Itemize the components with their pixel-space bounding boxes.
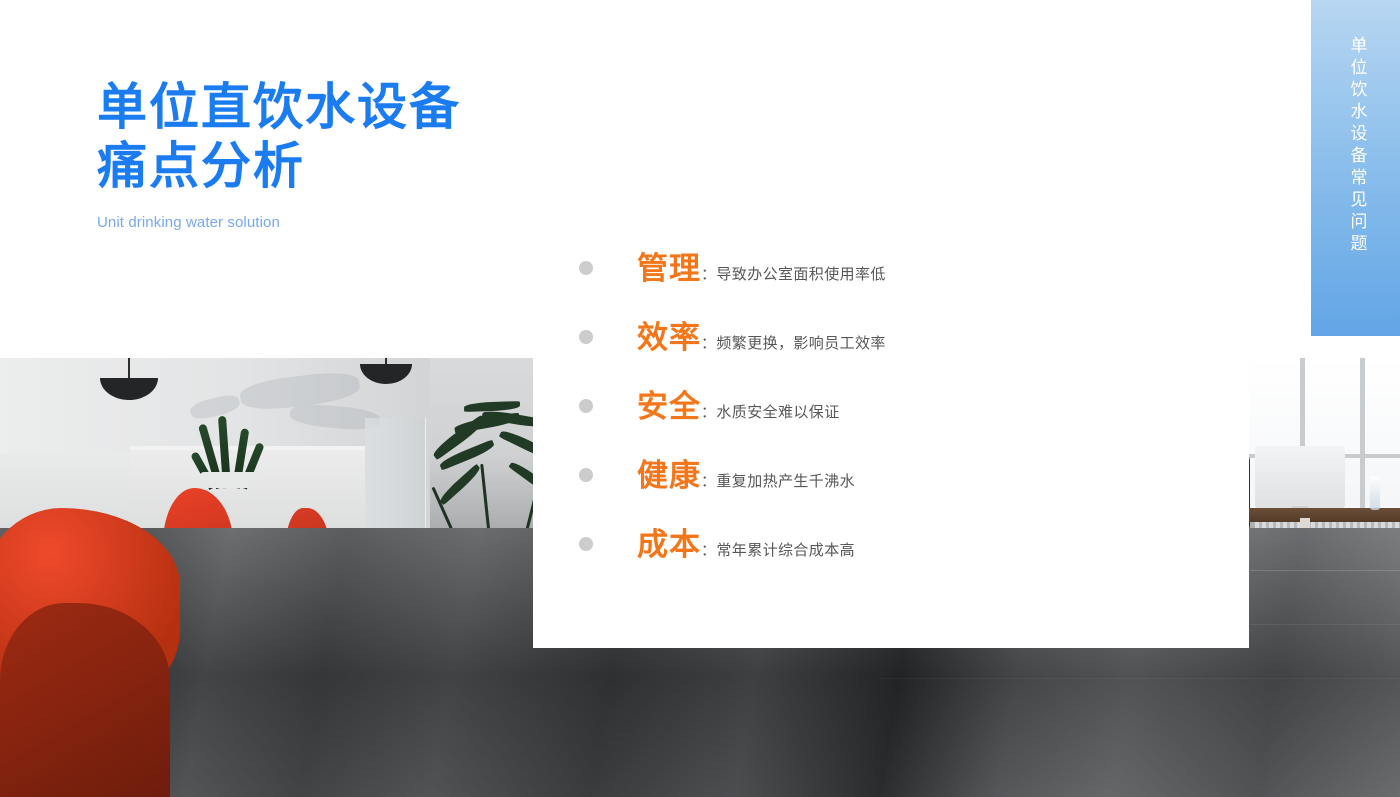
photo-water-bottle — [1370, 476, 1380, 510]
pain-point-description: ：重复加热产生千沸水 — [701, 470, 855, 491]
side-banner: 单位饮水设备常见问题 — [1311, 0, 1400, 336]
bullet-dot-icon — [579, 468, 593, 482]
pain-points-card: 管理 ：导致办公室面积使用率低 效率 ：频繁更换，影响员工效率 安全 ：水质安全… — [533, 205, 1249, 648]
pain-points-list: 管理 ：导致办公室面积使用率低 效率 ：频繁更换，影响员工效率 安全 ：水质安全… — [579, 243, 1219, 588]
bullet-dot-icon — [579, 261, 593, 275]
page-title-line-2: 痛点分析 — [97, 137, 461, 196]
headline-block: 单位直饮水设备 痛点分析 Unit drinking water solutio… — [97, 78, 461, 231]
pain-point-keyword: 管理 — [637, 243, 701, 288]
photo-imac-monitor — [1255, 446, 1345, 508]
photo-red-chair-shadowed — [0, 603, 170, 797]
photo-lamp-cord — [128, 358, 130, 380]
side-banner-label: 单位饮水设备常见问题 — [1346, 36, 1366, 306]
pain-point-keyword: 安全 — [637, 381, 701, 426]
page-subtitle: Unit drinking water solution — [97, 214, 461, 231]
pain-point-keyword: 效率 — [637, 312, 701, 357]
bullet-dot-icon — [579, 330, 593, 344]
pain-point-description: ：频繁更换，影响员工效率 — [701, 332, 886, 353]
list-item: 效率 ：频繁更换，影响员工效率 — [579, 312, 1219, 381]
pain-point-keyword: 成本 — [637, 519, 701, 564]
photo-snake-plant — [195, 416, 265, 488]
pain-point-description: ：水质安全难以保证 — [701, 401, 840, 422]
list-item: 成本 ：常年累计综合成本高 — [579, 519, 1219, 588]
list-item: 安全 ：水质安全难以保证 — [579, 381, 1219, 450]
pain-point-description: ：导致办公室面积使用率低 — [701, 263, 886, 284]
pain-point-description: ：常年累计综合成本高 — [701, 539, 855, 560]
photo-window-mullion — [1360, 358, 1365, 508]
list-item: 健康 ：重复加热产生千沸水 — [579, 450, 1219, 519]
pain-point-keyword: 健康 — [637, 450, 701, 495]
bullet-dot-icon — [579, 399, 593, 413]
bullet-dot-icon — [579, 537, 593, 551]
slide-root: 单位直饮水设备 痛点分析 Unit drinking water solutio… — [0, 0, 1400, 797]
page-title-line-1: 单位直饮水设备 — [97, 78, 461, 137]
list-item: 管理 ：导致办公室面积使用率低 — [579, 243, 1219, 312]
